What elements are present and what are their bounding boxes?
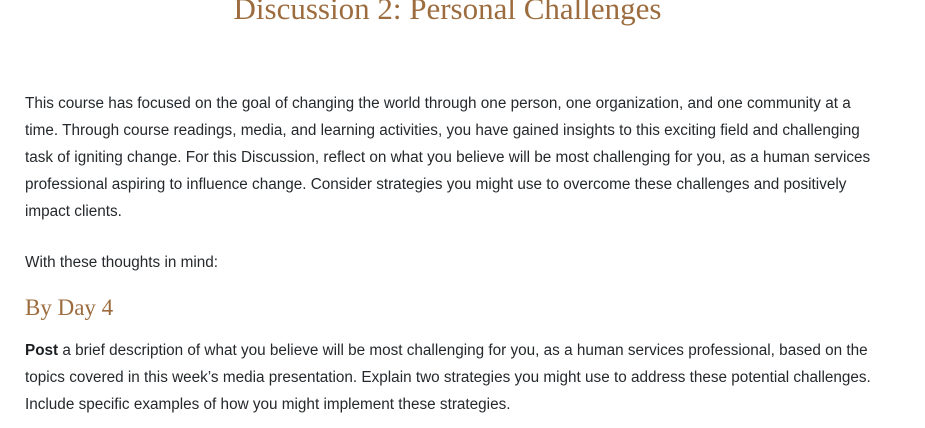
instruction-paragraph: Post a brief description of what you bel… <box>25 337 877 418</box>
paragraph-spacer <box>25 225 877 249</box>
document-page: Discussion 2: Personal Challenges This c… <box>0 0 925 428</box>
section-heading-by-day-4: By Day 4 <box>25 293 877 323</box>
document-content: This course has focused on the goal of c… <box>25 90 877 418</box>
page-title: Discussion 2: Personal Challenges <box>0 0 895 29</box>
transition-paragraph: With these thoughts in mind: <box>25 249 877 276</box>
instruction-lead-word: Post <box>25 342 58 359</box>
intro-paragraph: This course has focused on the goal of c… <box>25 90 877 225</box>
heading-spacer <box>25 323 877 337</box>
instruction-body-text: a brief description of what you believe … <box>25 342 871 413</box>
